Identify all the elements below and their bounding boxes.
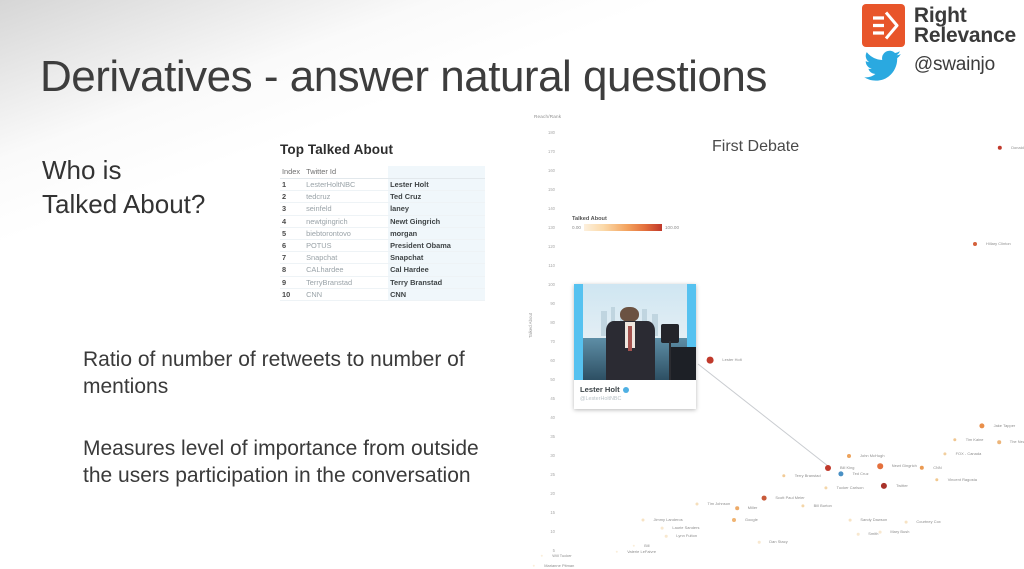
cell-twitter-id: CNN [304, 288, 388, 300]
scatter-point-label: Miller [748, 505, 758, 510]
cell-index: 5 [280, 227, 304, 239]
legend-title: Talked About [572, 216, 679, 222]
table-row[interactable]: 10CNNCNN [280, 288, 485, 300]
verified-badge-icon [623, 387, 629, 393]
cell-name: Ted Cruz [388, 191, 485, 203]
y-tick-label: 170 [543, 149, 555, 154]
chart-title: First Debate [712, 138, 799, 156]
scatter-point[interactable] [847, 454, 851, 458]
cell-name: Lester Holt [388, 179, 485, 191]
cell-index: 1 [280, 179, 304, 191]
y-tick-label: 40 [543, 415, 555, 420]
scatter-point-label: Bill [644, 543, 649, 548]
scatter-point-label: Google [745, 517, 758, 522]
scatter-point-label: Jake Tapper [994, 423, 1016, 428]
scatter-point-label: Marianne Pitman [544, 563, 574, 568]
table-row[interactable]: 5biebtorontovomorgan [280, 227, 485, 239]
bullet-ratio: Ratio of number of retweets to number of… [83, 346, 503, 400]
y-tick-label: 120 [543, 244, 555, 249]
page-title: Derivatives - answer natural questions [40, 52, 767, 102]
question-line-1: Who is [42, 153, 205, 187]
y-tick-label: 150 [543, 187, 555, 192]
scatter-point-label: Scott Paul Meier [775, 495, 804, 500]
cell-name: Newt Gingrich [388, 215, 485, 227]
table-title: Top Talked About [280, 142, 485, 157]
table-row[interactable]: 1LesterHoltNBCLester Holt [280, 179, 485, 191]
brand-badge: Right Relevance @swainjo [862, 4, 1016, 80]
y-tick-label: 45 [543, 396, 555, 401]
scatter-point[interactable] [997, 440, 1001, 444]
question-heading: Who is Talked About? [42, 153, 205, 221]
scatter-point[interactable] [732, 518, 736, 522]
scatter-point[interactable] [782, 474, 785, 477]
scatter-point-label: Will Tucker [552, 553, 572, 558]
y-axis-title: Talked About [528, 313, 533, 338]
y-tick-label: 80 [543, 320, 555, 325]
y-tick-label: 35 [543, 434, 555, 439]
cell-index: 3 [280, 203, 304, 215]
cell-name: Terry Branstad [388, 276, 485, 288]
cell-twitter-id: tedcruz [304, 191, 388, 203]
scatter-point[interactable] [762, 496, 767, 501]
column-header-name [388, 166, 485, 179]
cell-name: Cal Hardee [388, 264, 485, 276]
top-talked-about-table: Index Twitter Id 1LesterHoltNBCLester Ho… [280, 166, 485, 301]
scatter-point-label: Lynn Fulton [676, 533, 697, 538]
cell-index: 7 [280, 252, 304, 264]
cell-twitter-id: Snapchat [304, 252, 388, 264]
table-row[interactable]: 2tedcruzTed Cruz [280, 191, 485, 203]
scatter-point[interactable] [953, 438, 956, 441]
card-handle: @LesterHoltNBC [580, 396, 690, 402]
scatter-point[interactable] [696, 503, 699, 506]
cell-twitter-id: LesterHoltNBC [304, 179, 388, 191]
scatter-point[interactable] [825, 465, 831, 471]
y-tick-label: 90 [543, 301, 555, 306]
legend-max-value: 100.00 [665, 225, 679, 230]
table-row[interactable]: 7SnapchatSnapchat [280, 252, 485, 264]
scatter-point[interactable] [633, 545, 635, 547]
y-tick-label: 160 [543, 168, 555, 173]
scatter-point[interactable] [824, 486, 827, 489]
right-relevance-arrow-icon [862, 4, 905, 47]
scatter-point[interactable] [857, 533, 860, 536]
card-display-name: Lester Holt [580, 385, 620, 394]
cell-index: 6 [280, 239, 304, 251]
scatter-point-label: CNN [933, 465, 942, 470]
scatter-point[interactable] [541, 555, 543, 557]
scatter-point-label: Smith [868, 531, 878, 536]
legend-min-value: 0.00 [572, 225, 581, 230]
cell-twitter-id: POTUS [304, 239, 388, 251]
scatter-point[interactable] [661, 527, 664, 530]
scatter-point[interactable] [881, 483, 887, 489]
cell-index: 10 [280, 288, 304, 300]
top-talked-about-panel: Top Talked About Index Twitter Id 1Leste… [280, 142, 485, 301]
scatter-point-label: Mary Bush [890, 529, 909, 534]
cell-name: laney [388, 203, 485, 215]
bullet-measures: Measures level of importance from outsid… [83, 435, 503, 489]
y-tick-label: 70 [543, 339, 555, 344]
y-tick-label: 140 [543, 206, 555, 211]
scatter-point[interactable] [998, 146, 1002, 150]
cell-twitter-id: seinfeld [304, 203, 388, 215]
brand-name-row: Right Relevance [862, 4, 1016, 47]
microphone-icon [661, 324, 679, 380]
y-tick-label: 10 [543, 529, 555, 534]
column-header-index: Index [280, 166, 304, 179]
cell-twitter-id: biebtorontovo [304, 227, 388, 239]
y-tick-label: 30 [543, 453, 555, 458]
scatter-point-label: Jimmy Landeros [654, 517, 683, 522]
y-tick-label: 180 [543, 130, 555, 135]
scatter-point[interactable] [801, 504, 804, 507]
column-header-twitter-id: Twitter Id [304, 166, 388, 179]
cell-index: 4 [280, 215, 304, 227]
scatter-chart-panel: Reach/Rank Talked About First Debate 180… [512, 108, 1024, 569]
scatter-point[interactable] [935, 478, 938, 481]
cell-name: morgan [388, 227, 485, 239]
scatter-point[interactable] [642, 519, 645, 522]
table-row[interactable]: 9TerryBranstadTerry Branstad [280, 276, 485, 288]
cell-name: President Obama [388, 239, 485, 251]
y-tick-label: 50 [543, 377, 555, 382]
cell-twitter-id: CALhardee [304, 264, 388, 276]
scatter-point[interactable] [665, 535, 668, 538]
y-axis-name: Reach/Rank [534, 114, 561, 119]
twitter-bird-icon [862, 50, 905, 80]
scatter-point-label: Twitter [896, 483, 908, 488]
scatter-point-label: The New York Times [1010, 439, 1024, 444]
scatter-point[interactable] [735, 506, 739, 510]
brand-name: Right Relevance [914, 6, 1016, 46]
twitter-handle-row: @swainjo [862, 50, 1016, 80]
scatter-point-label: Valerie LeFaivre [627, 549, 656, 554]
legend-gradient-bar [584, 224, 662, 231]
scatter-point[interactable] [758, 541, 761, 544]
twitter-handle: @swainjo [914, 54, 995, 76]
scatter-point-label: Donald J. Trump [1011, 145, 1024, 150]
scatter-point-label: Terry Branstad [795, 473, 821, 478]
scatter-point[interactable] [877, 463, 883, 469]
scatter-point[interactable] [979, 423, 984, 428]
table-row[interactable]: 3seinfeldlaney [280, 203, 485, 215]
y-tick-label: 100 [543, 282, 555, 287]
anchor-figure [606, 307, 655, 380]
scatter-point-label: Lester Holt [722, 357, 741, 362]
legend-scale: 0.00 100.00 [572, 224, 679, 231]
card-display-name-row: Lester Holt [580, 385, 690, 394]
cell-name: CNN [388, 288, 485, 300]
scatter-point-label: Tim Johnson [708, 501, 731, 506]
chart-legend: Talked About 0.00 100.00 [572, 216, 679, 231]
cell-twitter-id: TerryBranstad [304, 276, 388, 288]
scatter-point[interactable] [905, 521, 908, 524]
scatter-point[interactable] [879, 531, 882, 534]
y-tick-label: 25 [543, 472, 555, 477]
y-tick-label: 20 [543, 491, 555, 496]
cell-index: 8 [280, 264, 304, 276]
cell-index: 9 [280, 276, 304, 288]
scatter-point-label: Newt Gingrich [892, 463, 917, 468]
news-anchor-photo [574, 284, 696, 380]
presentation-slide: Right Relevance @swainjo Derivatives - a… [0, 0, 1024, 569]
scatter-point[interactable] [920, 466, 924, 470]
cell-index: 2 [280, 191, 304, 203]
y-tick-label: 15 [543, 510, 555, 515]
card-body: Lester Holt @LesterHoltNBC [574, 380, 696, 409]
cell-name: Snapchat [388, 252, 485, 264]
scatter-point-label: Bill Burton [814, 503, 832, 508]
scatter-point-label: Courtney Cox [916, 519, 940, 524]
scatter-point-label: FOX - Canada [956, 451, 982, 456]
scatter-point-label: Laurie Sanders [672, 525, 699, 530]
table-row[interactable]: 6POTUSPresident Obama [280, 239, 485, 251]
scatter-point-label: Tim Kaine [966, 437, 984, 442]
question-line-2: Talked About? [42, 187, 205, 221]
table-row[interactable]: 4newtgingrichNewt Gingrich [280, 215, 485, 227]
scatter-point-label: John McHugh [860, 453, 885, 458]
tweet-preview-card[interactable]: Lester Holt @LesterHoltNBC [574, 284, 696, 409]
cell-twitter-id: newtgingrich [304, 215, 388, 227]
scatter-point[interactable] [707, 357, 714, 364]
y-tick-label: 60 [543, 358, 555, 363]
scatter-point-label: Ted Cruz [853, 471, 869, 476]
scatter-point[interactable] [849, 519, 852, 522]
scatter-point[interactable] [838, 471, 843, 476]
scatter-point-label: Hillary Clinton [986, 241, 1011, 246]
scatter-point-label: Vincent Ragosta [948, 477, 977, 482]
table-row[interactable]: 8CALhardeeCal Hardee [280, 264, 485, 276]
scatter-point[interactable] [943, 452, 946, 455]
scatter-point-label: Dan Stacy [769, 539, 787, 544]
y-tick-label: 110 [543, 263, 555, 268]
scatter-point-label: Bill King [840, 465, 855, 470]
table-header-row: Index Twitter Id [280, 166, 485, 179]
scatter-point[interactable] [533, 565, 535, 567]
y-tick-label: 130 [543, 225, 555, 230]
scatter-point-label: Sandy Dawson [860, 517, 887, 522]
scatter-point-label: Tucker Carlson [837, 485, 864, 490]
scatter-point[interactable] [973, 242, 977, 246]
scatter-point[interactable] [616, 551, 618, 553]
